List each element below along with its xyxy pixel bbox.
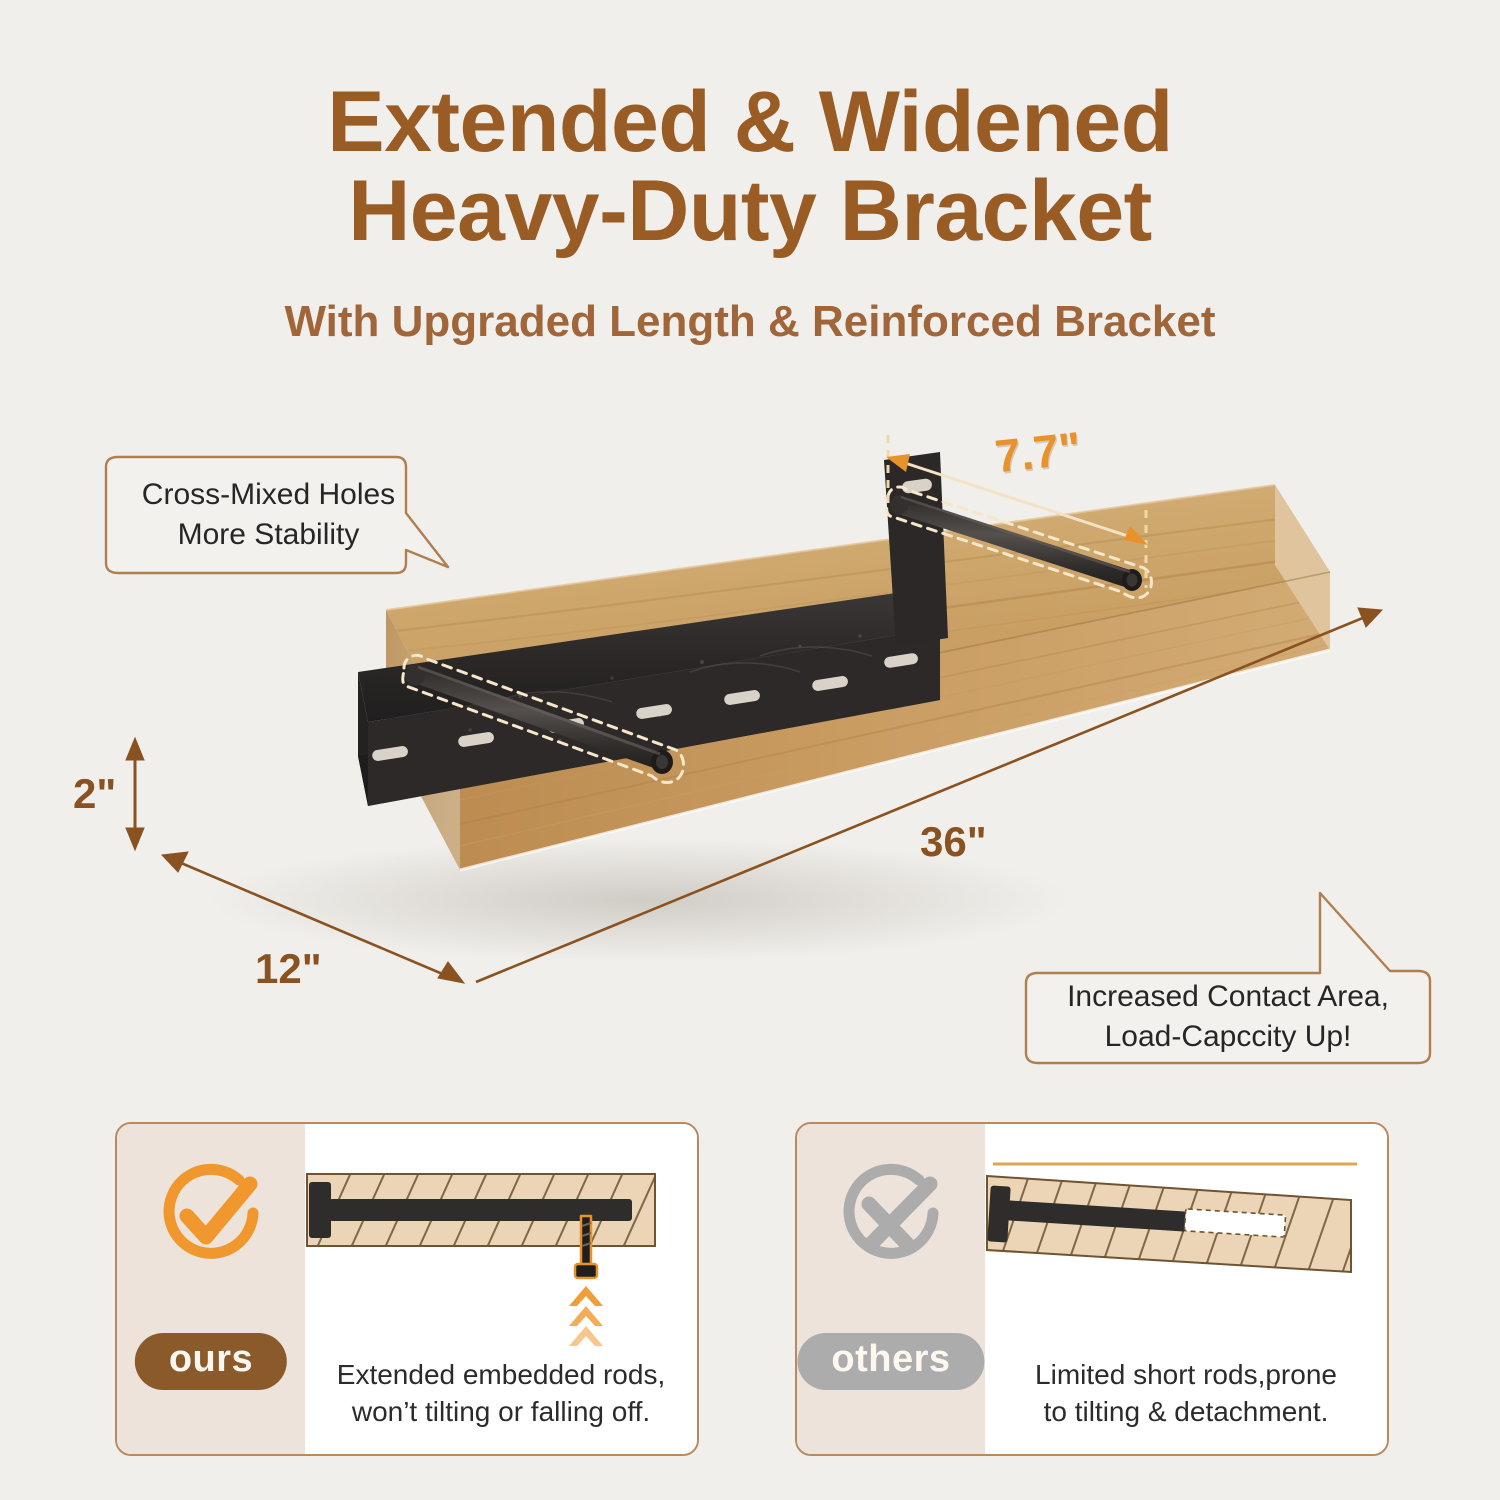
up-arrows-icon: [569, 1286, 603, 1346]
callout-cross-mixed-holes: Cross-Mixed Holes More Stability: [96, 455, 441, 575]
panel-others-caption-line-1: Limited short rods,prone: [985, 1356, 1387, 1393]
infographic-root: Extended & Widened Heavy-Duty Bracket Wi…: [0, 0, 1500, 1500]
callout-left-line-2: More Stability: [142, 515, 395, 555]
panel-ours-caption-line-2: won’t tilting or falling off.: [305, 1393, 697, 1430]
callout-increased-contact-area: Increased Contact Area, Load-Capccity Up…: [1018, 955, 1438, 1065]
panel-others-caption: Limited short rods,prone to tilting & de…: [985, 1356, 1387, 1430]
panel-ours: ours: [115, 1122, 699, 1456]
callout-left-line-1: Cross-Mixed Holes: [142, 475, 395, 515]
panel-others-caption-line-2: to tilting & detachment.: [985, 1393, 1387, 1430]
panel-others: others: [795, 1122, 1389, 1456]
callout-right-line-1: Increased Contact Area,: [1067, 977, 1389, 1017]
panel-others-diagram: Limited short rods,prone to tilting & de…: [985, 1124, 1387, 1454]
comparison-panels: ours: [0, 1122, 1500, 1462]
badge-others: others: [797, 1333, 984, 1390]
dimension-label-thickness: 2": [73, 770, 116, 818]
page-title: Extended & Widened Heavy-Duty Bracket: [0, 78, 1500, 255]
panel-ours-caption-line-1: Extended embedded rods,: [305, 1356, 697, 1393]
check-circle-icon: [153, 1158, 269, 1274]
panel-ours-diagram: Extended embedded rods, won’t tilting or…: [305, 1124, 697, 1454]
dimension-label-depth: 12": [255, 945, 322, 993]
thickness-dimension: [126, 738, 144, 850]
headline-line-2: Heavy-Duty Bracket: [0, 167, 1500, 256]
dimension-label-length: 36": [920, 818, 987, 866]
headline-line-1: Extended & Widened: [327, 74, 1173, 170]
badge-ours: ours: [135, 1333, 287, 1390]
panel-ours-caption: Extended embedded rods, won’t tilting or…: [305, 1356, 697, 1430]
panel-others-sidebar: others: [797, 1124, 985, 1454]
x-circle-icon: [833, 1158, 949, 1274]
page-subtitle: With Upgraded Length & Reinforced Bracke…: [0, 297, 1500, 347]
callout-right-line-2: Load-Capccity Up!: [1067, 1017, 1389, 1057]
panel-ours-sidebar: ours: [117, 1124, 305, 1454]
dimension-label-rod-length: 7.7": [992, 421, 1083, 484]
